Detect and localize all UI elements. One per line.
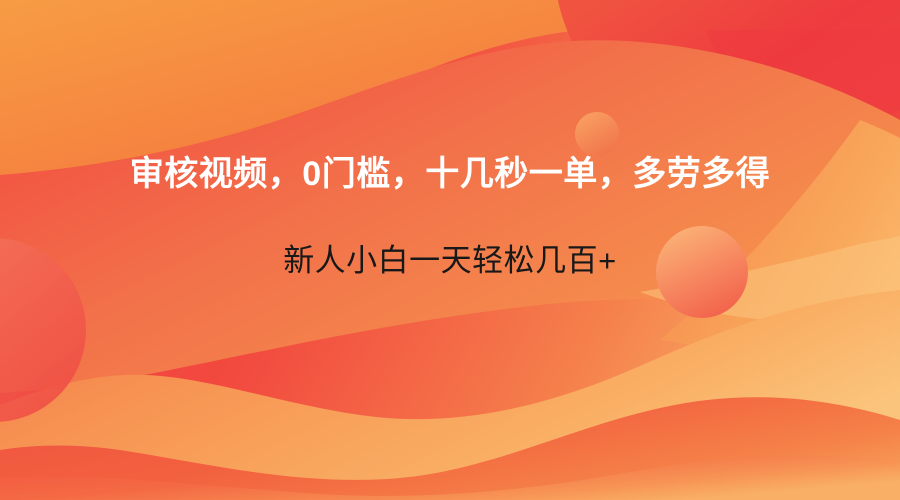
promo-banner: 审核视频，0门槛，十几秒一单，多劳多得 新人小白一天轻松几百+ [0, 0, 900, 500]
abstract-background-art [0, 0, 900, 500]
circle-small-top [575, 112, 619, 156]
circle-large-right [656, 226, 748, 318]
